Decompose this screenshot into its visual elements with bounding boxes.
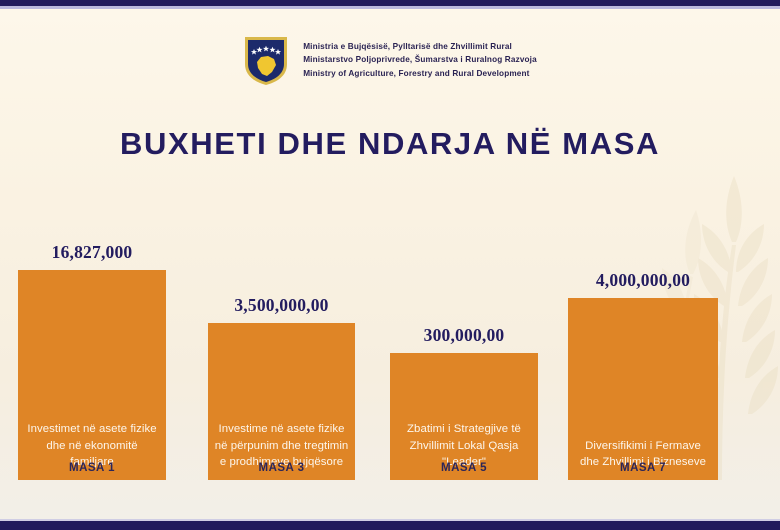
ministry-header: Ministria e Bujqësisë, Pylltarisë dhe Zh…	[0, 34, 780, 86]
ministry-name-en: Ministry of Agriculture, Forestry and Ru…	[303, 68, 537, 79]
category-label-masa-3: MASA 3	[208, 462, 355, 474]
bar-column-masa-7: 4,000,000,00 Diversifikimi i Fermave dhe…	[568, 175, 718, 480]
bottom-band	[0, 521, 780, 530]
bar-value-label: 16,827,000	[52, 242, 133, 263]
category-label-masa-7: MASA 7	[568, 462, 718, 474]
bar-column-masa-1: 16,827,000 Investimet në asete fizike dh…	[18, 175, 166, 480]
bottom-band-accent	[0, 519, 780, 521]
category-label-masa-1: MASA 1	[18, 462, 166, 474]
page-title: BUXHETI DHE NDARJA NË MASA	[0, 126, 780, 162]
bar-column-masa-5: 300,000,00 Zbatimi i Strategjive të Zhvi…	[390, 175, 538, 480]
bar-rect[interactable]: Investimet në asete fizike dhe në ekonom…	[18, 270, 166, 480]
ministry-name-sq: Ministria e Bujqësisë, Pylltarisë dhe Zh…	[303, 41, 537, 52]
bar-column-masa-3: 3,500,000,00 Investime në asete fizike n…	[208, 175, 355, 480]
category-axis: MASA 1 MASA 3 MASA 5 MASA 7	[0, 450, 780, 474]
category-label-masa-5: MASA 5	[390, 462, 538, 474]
bar-value-label: 300,000,00	[424, 325, 505, 346]
top-band-accent	[0, 6, 780, 9]
ministry-name-sr: Ministarstvo Poljoprivrede, Šumarstva i …	[303, 54, 537, 65]
bar-value-label: 3,500,000,00	[234, 295, 328, 316]
slide-canvas: Ministria e Bujqësisë, Pylltarisë dhe Zh…	[0, 0, 780, 530]
bar-chart: 16,827,000 Investimet në asete fizike dh…	[0, 175, 780, 480]
kosovo-coat-of-arms-icon	[243, 34, 289, 86]
bar-value-label: 4,000,000,00	[596, 270, 690, 291]
ministry-name-block: Ministria e Bujqësisë, Pylltarisë dhe Zh…	[303, 41, 537, 78]
